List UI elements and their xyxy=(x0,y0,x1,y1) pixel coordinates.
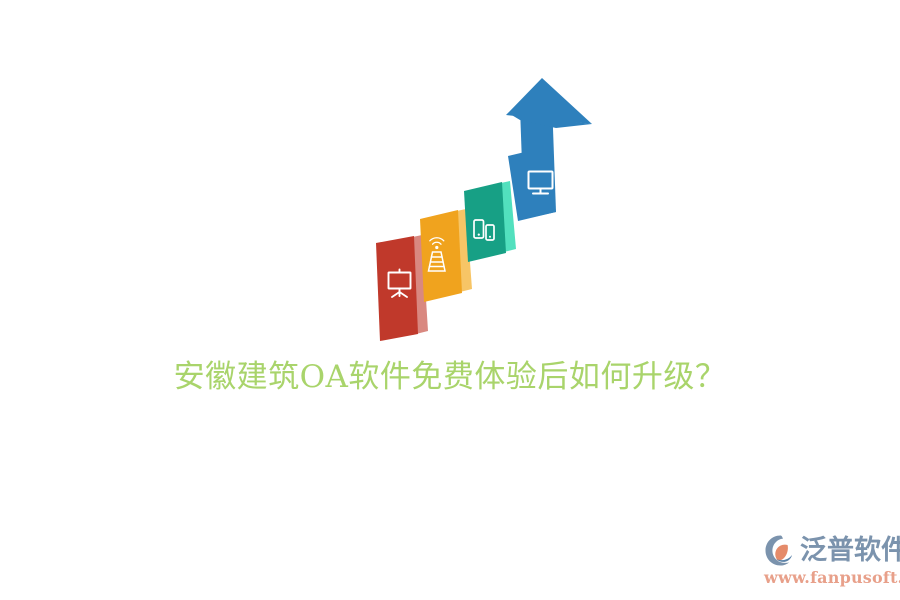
growth-arrow-illustration xyxy=(360,68,610,348)
page-canvas: 安徽建筑OA软件免费体验后如何升级？ 泛普软件 www.fanpusoft.co… xyxy=(0,0,900,600)
arrow-segment-orange-face xyxy=(420,210,462,302)
page-title: 安徽建筑OA软件免费体验后如何升级？ xyxy=(0,354,900,400)
watermark-brand-text: 泛普软件 xyxy=(800,536,900,566)
watermark-url[interactable]: www.fanpusoft.com xyxy=(764,568,892,588)
watermark-brand-row: 泛普软件 xyxy=(764,532,892,570)
arrow-segment-green xyxy=(464,181,516,262)
arrow-segment-green-face xyxy=(464,182,506,262)
arrow-segment-red xyxy=(376,235,428,341)
arrow-segment-orange xyxy=(420,209,472,302)
arrow-segment-blue xyxy=(506,78,592,221)
watermark-logo[interactable]: 泛普软件 www.fanpusoft.com xyxy=(764,532,892,594)
fanpu-swoosh-logo-icon xyxy=(764,534,798,568)
